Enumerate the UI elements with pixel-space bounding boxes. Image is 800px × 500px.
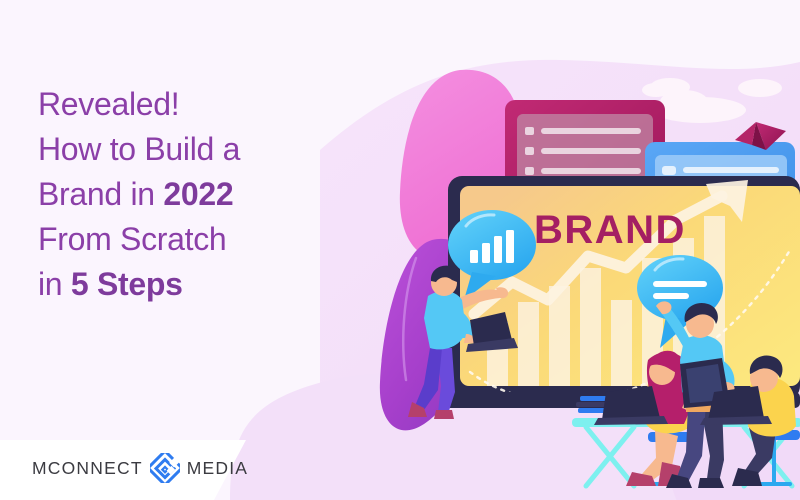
mconnect-diamond-spiral-icon <box>150 453 180 483</box>
logo-word-right: MEDIA <box>187 458 248 479</box>
headline-year: 2022 <box>163 176 233 212</box>
cloud-icon <box>642 83 670 97</box>
brand-logo[interactable]: MCONNECT MEDIA <box>32 453 248 483</box>
headline-line-2: How to Build a <box>38 127 368 172</box>
headline-line-3: Brand in 2022 <box>38 172 368 217</box>
marketing-banner: Revealed! How to Build a Brand in 2022 F… <box>0 0 800 500</box>
headline-steps: 5 Steps <box>71 266 183 302</box>
headline-line-3-text: Brand in <box>38 176 163 212</box>
screen-brand-label: BRAND <box>534 208 686 252</box>
headline-line-1: Revealed! <box>38 82 368 127</box>
headline-line-1-text: Revealed! <box>38 86 179 122</box>
cloud-icon <box>738 79 782 97</box>
logo-word-left: MCONNECT <box>32 458 143 479</box>
headline-line-5-text: in <box>38 266 71 302</box>
headline-line-5: in 5 Steps <box>38 262 368 307</box>
headline-line-2-text: How to Build a <box>38 131 240 167</box>
headline-line-4-text: From Scratch <box>38 221 226 257</box>
headline-line-4: From Scratch <box>38 217 368 262</box>
headline-block: Revealed! How to Build a Brand in 2022 F… <box>38 82 368 307</box>
